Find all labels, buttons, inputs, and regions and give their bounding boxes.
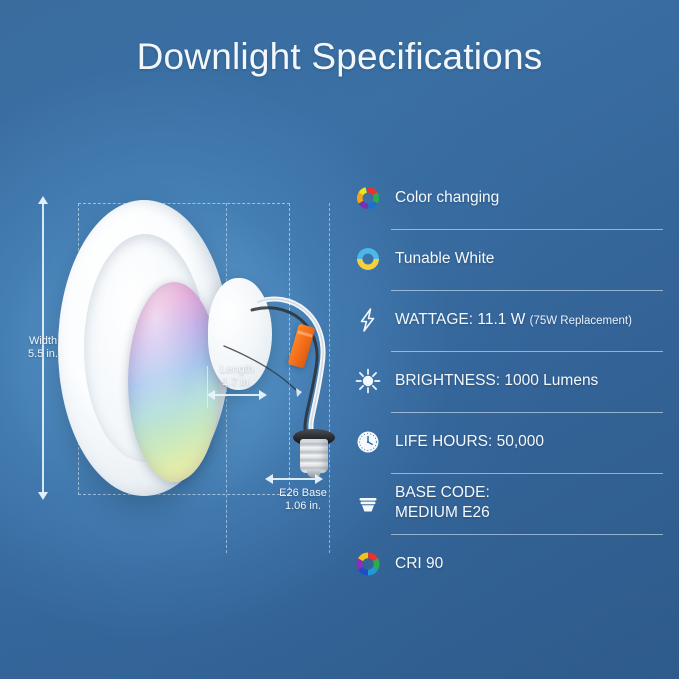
spec-label-brightness: BRIGHTNESS: 1000 Lumens: [395, 371, 598, 391]
spec-divider: [391, 351, 663, 352]
infographic-canvas: Downlight Specifications: [0, 0, 679, 679]
length-label: Length 1.7 in.: [198, 363, 276, 389]
spec-row-cri: CRI 90: [345, 533, 667, 594]
bulb-base-icon: [345, 486, 391, 520]
specification-list: Color changing Tunable White: [345, 168, 667, 594]
base-label: E26 Base 1.06 in.: [250, 487, 356, 513]
sun-icon: [345, 364, 391, 398]
length-dimension-arrow: [214, 394, 260, 396]
spec-label-wattage: WATTAGE: 11.1 W (75W Replacement): [395, 310, 632, 331]
spec-row-base-code: BASE CODE: MEDIUM E26: [345, 472, 667, 533]
spec-row-life-hours: LIFE HOURS: 50,000: [345, 411, 667, 472]
wattage-replacement-note: (75W Replacement): [530, 315, 632, 327]
spec-label-base-code: BASE CODE: MEDIUM E26: [395, 483, 490, 523]
spec-label-life-hours: LIFE HOURS: 50,000: [395, 432, 544, 452]
spec-label-color-changing: Color changing: [395, 188, 499, 208]
e26-screw-base: [300, 439, 328, 473]
color-wheel-icon: [345, 181, 391, 215]
spec-row-tunable-white: Tunable White: [345, 228, 667, 289]
spec-divider: [391, 290, 663, 291]
color-wheel-full-icon: [345, 547, 391, 581]
spec-divider: [391, 473, 663, 474]
spec-row-wattage: WATTAGE: 11.1 W (75W Replacement): [345, 289, 667, 350]
spec-divider: [391, 229, 663, 230]
spec-label-tunable-white: Tunable White: [395, 249, 494, 269]
wattage-value: WATTAGE: 11.1 W: [395, 311, 525, 328]
spec-row-brightness: BRIGHTNESS: 1000 Lumens: [345, 350, 667, 411]
clock-icon: [345, 425, 391, 459]
spec-row-color-changing: Color changing: [345, 168, 667, 228]
spec-divider: [391, 412, 663, 413]
spec-divider: [391, 534, 663, 535]
tunable-white-icon: [345, 242, 391, 276]
product-diagram: Width 5.5 in. Length 1.7 in. E26 Base 1.…: [0, 150, 345, 550]
base-dimension-arrow: [272, 478, 316, 480]
lightning-bolt-icon: [345, 303, 391, 337]
spec-label-cri: CRI 90: [395, 554, 443, 574]
width-label: Width 5.5 in.: [6, 335, 80, 361]
page-title: Downlight Specifications: [0, 36, 679, 78]
